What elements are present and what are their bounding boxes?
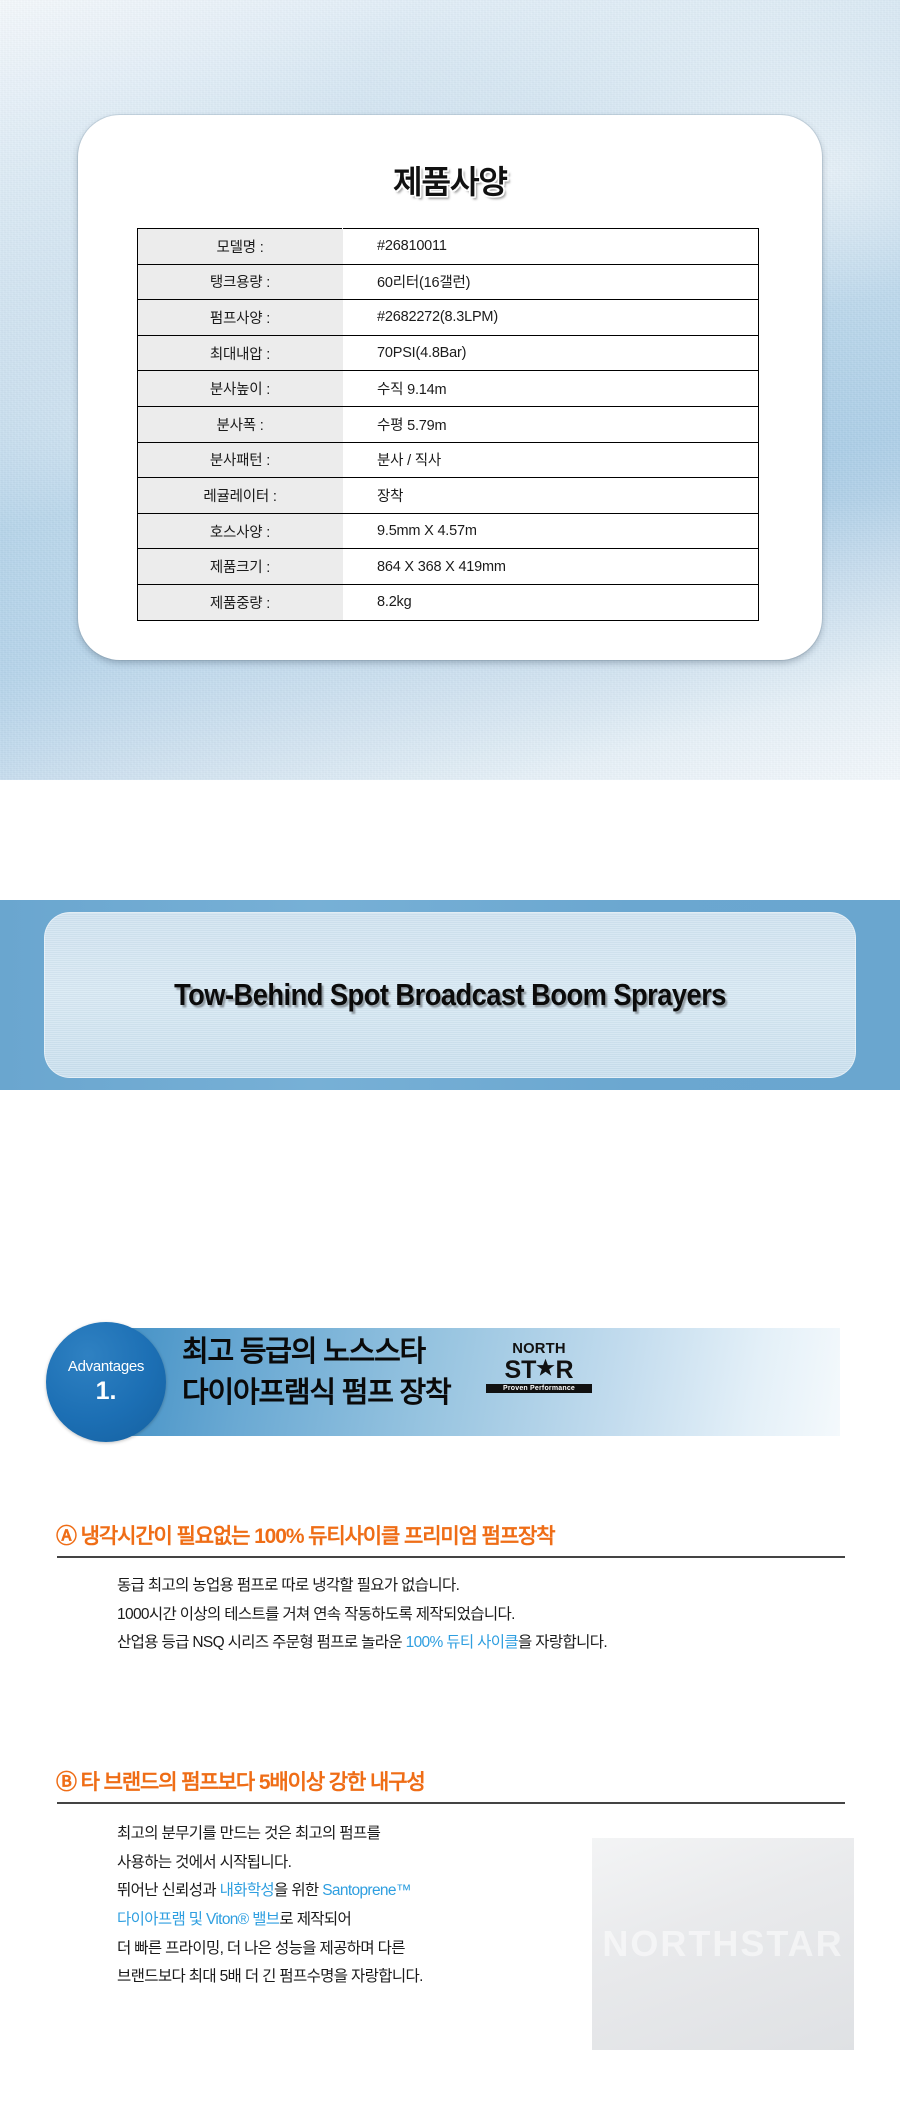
body-line: 1000시간 이상의 테스트를 거쳐 연속 작동하도록 제작되었습니다. <box>117 1601 607 1630</box>
spec-value: 9.5mm X 4.57m <box>343 513 759 549</box>
advantage-badge-word: Advantages <box>68 1358 144 1375</box>
feature-a-body: 동급 최고의 농업용 펌프로 따로 냉각할 필요가 없습니다.1000시간 이상… <box>117 1572 607 1658</box>
body-line: 다이아프램 및 Viton® 밸브로 제작되어 <box>117 1906 423 1935</box>
northstar-star-part2: R <box>555 1356 573 1384</box>
spec-value: 수평 5.79m <box>343 406 759 442</box>
body-text: 뛰어난 신뢰성과 <box>117 1882 220 1899</box>
banner-title: Tow-Behind Spot Broadcast Boom Sprayers <box>93 912 808 1078</box>
marker-a-icon: Ⓐ <box>56 1525 76 1548</box>
spec-label: 레귤레이터 : <box>138 478 343 514</box>
body-line: 사용하는 것에서 시작됩니다. <box>117 1849 423 1878</box>
spec-card: 제품사양 모델명 :#26810011탱크용량 :60리터(16갤런)펌프사양 … <box>78 115 822 660</box>
spec-label: 분사높이 : <box>138 371 343 407</box>
body-text: 동급 최고의 농업용 펌프로 따로 냉각할 필요가 없습니다. <box>117 1577 459 1594</box>
spec-value: 8.2kg <box>343 584 759 620</box>
table-row: 제품중량 :8.2kg <box>138 584 759 620</box>
body-text: 더 빠른 프라이밍, 더 나은 성능을 제공하며 다른 <box>117 1940 405 1957</box>
feature-a-heading-text: 냉각시간이 필요없는 100% 듀티사이클 프리미엄 펌프장착 <box>81 1525 555 1548</box>
table-row: 레귤레이터 :장착 <box>138 478 759 514</box>
body-highlight: Santoprene™ <box>322 1882 411 1899</box>
table-row: 펌프사양 :#2682272(8.3LPM) <box>138 300 759 336</box>
body-text: 브랜드보다 최대 5배 더 긴 펌프수명을 자랑합니다. <box>117 1968 423 1985</box>
table-row: 분사패턴 :분사 / 직사 <box>138 442 759 478</box>
spec-label: 분사패턴 : <box>138 442 343 478</box>
table-row: 모델명 :#26810011 <box>138 229 759 265</box>
feature-a-heading: Ⓐ 냉각시간이 필요없는 100% 듀티사이클 프리미엄 펌프장착 <box>56 1520 846 1550</box>
body-highlight: 내화학성 <box>220 1882 274 1899</box>
pump-photo-watermark: NORTHSTAR <box>602 1923 843 1965</box>
spec-section: 제품사양 모델명 :#26810011탱크용량 :60리터(16갤런)펌프사양 … <box>0 0 900 780</box>
spec-value: #26810011 <box>343 229 759 265</box>
body-text: 사용하는 것에서 시작됩니다. <box>117 1854 291 1871</box>
section-banner: Tow-Behind Spot Broadcast Boom Sprayers <box>0 900 900 1090</box>
feature-b-divider <box>57 1802 845 1804</box>
body-line: 뛰어난 신뢰성과 내화학성을 위한 Santoprene™ <box>117 1877 423 1906</box>
spec-label: 모델명 : <box>138 229 343 265</box>
marker-b-icon: Ⓑ <box>56 1771 76 1794</box>
advantage-badge-number: 1. <box>96 1377 117 1406</box>
table-row: 분사높이 :수직 9.14m <box>138 371 759 407</box>
spec-table: 모델명 :#26810011탱크용량 :60리터(16갤런)펌프사양 :#268… <box>137 228 759 621</box>
spec-value: 70PSI(4.8Bar) <box>343 335 759 371</box>
body-text: 최고의 분무기를 만드는 것은 최고의 펌프를 <box>117 1825 380 1842</box>
feature-b-heading-text: 타 브랜드의 펌프보다 5배이상 강한 내구성 <box>81 1771 425 1794</box>
table-row: 탱크용량 :60리터(16갤런) <box>138 264 759 300</box>
body-text: 을 위한 <box>274 1882 322 1899</box>
body-highlight: 다이아프램 및 Viton® 밸브 <box>117 1911 279 1928</box>
pump-product-photo: NORTHSTAR <box>592 1838 854 2050</box>
spec-value: 수직 9.14m <box>343 371 759 407</box>
spec-label: 탱크용량 : <box>138 264 343 300</box>
spec-label: 호스사양 : <box>138 513 343 549</box>
spec-value: 60리터(16갤런) <box>343 264 759 300</box>
table-row: 최대내압 :70PSI(4.8Bar) <box>138 335 759 371</box>
spec-value: 장착 <box>343 478 759 514</box>
body-line: 더 빠른 프라이밍, 더 나은 성능을 제공하며 다른 <box>117 1935 423 1964</box>
body-text: 을 자랑합니다. <box>518 1634 607 1651</box>
northstar-logo-star: STR <box>486 1357 592 1383</box>
body-text: 1000시간 이상의 테스트를 거쳐 연속 작동하도록 제작되었습니다. <box>117 1606 515 1623</box>
northstar-star-part1: ST <box>504 1356 536 1384</box>
spec-label: 분사폭 : <box>138 406 343 442</box>
product-detail-page: 제품사양 모델명 :#26810011탱크용량 :60리터(16갤런)펌프사양 … <box>0 0 900 2109</box>
body-line: 동급 최고의 농업용 펌프로 따로 냉각할 필요가 없습니다. <box>117 1572 607 1601</box>
table-row: 분사폭 :수평 5.79m <box>138 406 759 442</box>
body-line: 브랜드보다 최대 5배 더 긴 펌프수명을 자랑합니다. <box>117 1963 423 1992</box>
body-line: 산업용 등급 NSQ 시리즈 주문형 펌프로 놀라운 100% 듀티 사이클을 … <box>117 1629 607 1658</box>
spec-label: 제품크기 : <box>138 549 343 585</box>
advantage-header: Advantages 1. 최고 등급의 노스스타 다이아프램식 펌프 장착 N… <box>0 1322 900 1442</box>
spec-value: #2682272(8.3LPM) <box>343 300 759 336</box>
table-row: 제품크기 :864 X 368 X 419mm <box>138 549 759 585</box>
page-title: 제품사양 <box>78 157 822 203</box>
spec-label: 펌프사양 : <box>138 300 343 336</box>
northstar-logo-tagline: Proven Performance <box>486 1384 592 1394</box>
feature-b-body: 최고의 분무기를 만드는 것은 최고의 펌프를사용하는 것에서 시작됩니다.뛰어… <box>117 1820 423 1992</box>
advantage-badge: Advantages 1. <box>46 1322 166 1442</box>
spec-label: 제품중량 : <box>138 584 343 620</box>
body-text: 산업용 등급 NSQ 시리즈 주문형 펌프로 놀라운 <box>117 1634 406 1651</box>
feature-a-divider <box>57 1556 845 1558</box>
spec-value: 분사 / 직사 <box>343 442 759 478</box>
northstar-logo: NORTH STR Proven Performance <box>486 1342 592 1390</box>
body-line: 최고의 분무기를 만드는 것은 최고의 펌프를 <box>117 1820 423 1849</box>
spec-value: 864 X 368 X 419mm <box>343 549 759 585</box>
spec-label: 최대내압 : <box>138 335 343 371</box>
body-text: 로 제작되어 <box>279 1911 351 1928</box>
northstar-logo-north: NORTH <box>485 1342 593 1357</box>
feature-b-heading: Ⓑ 타 브랜드의 펌프보다 5배이상 강한 내구성 <box>56 1766 846 1796</box>
banner-panel: Tow-Behind Spot Broadcast Boom Sprayers <box>44 912 856 1078</box>
body-highlight: 100% 듀티 사이클 <box>406 1634 518 1651</box>
table-row: 호스사양 :9.5mm X 4.57m <box>138 513 759 549</box>
